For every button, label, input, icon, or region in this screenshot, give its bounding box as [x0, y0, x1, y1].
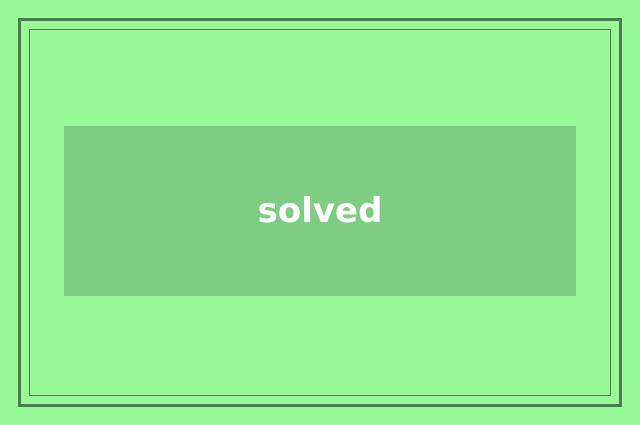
page-canvas: solved [0, 0, 640, 425]
status-message-text: solved [258, 194, 383, 228]
status-panel: solved [64, 126, 576, 296]
